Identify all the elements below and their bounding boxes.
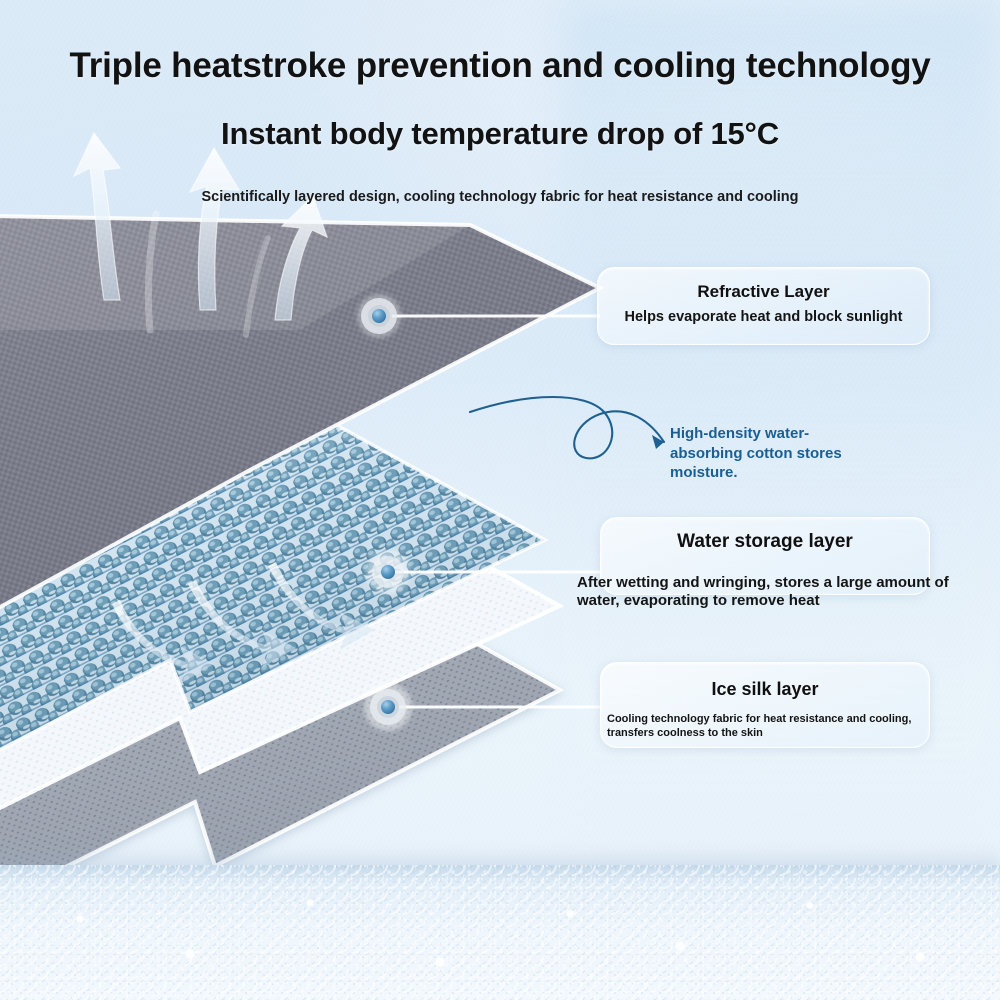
callout-card-water-storage-layer[interactable]: Water storage layer After wetting and wr… [600, 517, 930, 595]
refractive-layer-marker[interactable] [357, 294, 401, 338]
annotation-leader [470, 397, 664, 458]
annotation-arrowhead [652, 435, 664, 449]
callout-card-ice-silk-layer[interactable]: Ice silk layer Cooling technology fabric… [600, 662, 930, 748]
water-storage-layer-marker[interactable] [366, 550, 410, 594]
callout-desc-water-storage-layer: After wetting and wringing, stores a lar… [577, 574, 987, 611]
callout-title-water-storage-layer: Water storage layer [601, 531, 929, 553]
page-title-secondary: Instant body temperature drop of 15°C [0, 116, 1000, 152]
page-title-primary: Triple heatstroke prevention and cooling… [0, 46, 1000, 86]
callout-card-refractive-layer[interactable]: Refractive Layer Helps evaporate heat an… [597, 267, 930, 345]
callout-desc-ice-silk-layer: Cooling technology fabric for heat resis… [607, 712, 937, 741]
snow-ground [0, 865, 1000, 1000]
page-subtitle: Scientifically layered design, cooling t… [0, 189, 1000, 205]
annotation-text: High-density water-absorbing cotton stor… [670, 424, 880, 483]
ice-silk-layer-marker[interactable] [364, 683, 412, 731]
callout-title-ice-silk-layer: Ice silk layer [601, 679, 929, 700]
callout-title-refractive-layer: Refractive Layer [598, 282, 929, 302]
callout-desc-refractive-layer: Helps evaporate heat and block sunlight [598, 309, 929, 325]
infographic-canvas: Triple heatstroke prevention and cooling… [0, 0, 1000, 1000]
